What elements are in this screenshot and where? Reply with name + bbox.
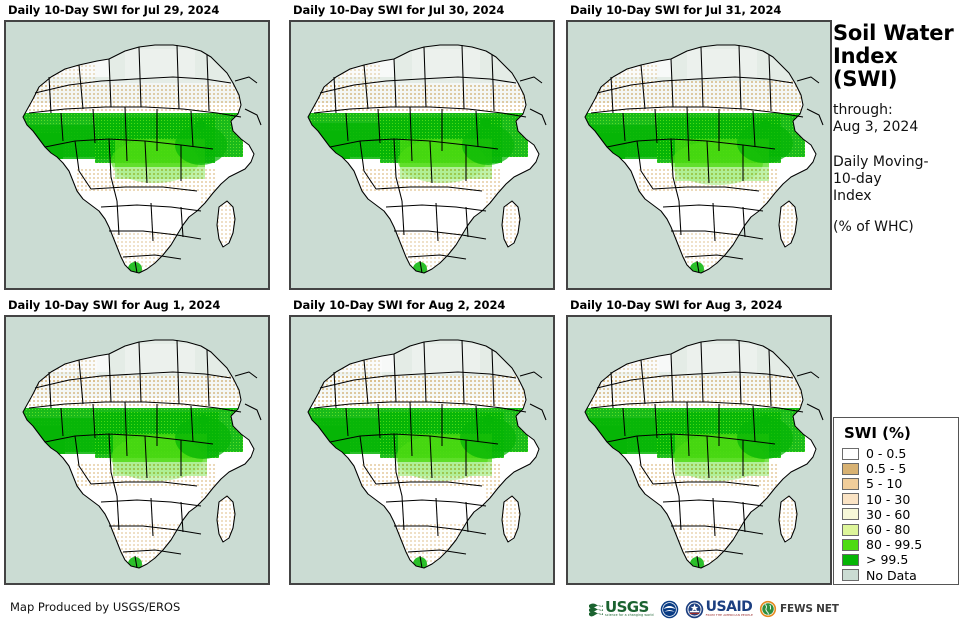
legend-label: 0.5 - 5 <box>866 461 906 476</box>
usgs-wave-icon <box>588 601 604 617</box>
fews-logo[interactable]: FEWS NET <box>759 598 839 620</box>
legend-item: 0.5 - 5 <box>842 461 950 476</box>
page-title: Soil Water Index (SWI) <box>833 22 970 91</box>
through-block: through: Aug 3, 2024 <box>833 102 970 136</box>
index-desc-line3: Index <box>833 188 970 205</box>
legend-item: 5 - 10 <box>842 476 950 491</box>
map-canvas-3[interactable] <box>566 20 832 290</box>
legend-swatch <box>842 463 859 475</box>
map-header: Soil Water Index (SWI) through: Aug 3, 2… <box>833 22 970 236</box>
legend-label: 30 - 60 <box>866 507 910 522</box>
noaa-logo[interactable] <box>660 598 679 620</box>
noaa-seal-icon <box>660 600 679 619</box>
africa-swi-map <box>5 21 269 289</box>
map-credit: Map Produced by USGS/EROS <box>10 600 180 614</box>
map-panel-1[interactable]: Daily 10-Day SWI for Jul 29, 2024 <box>0 2 272 290</box>
map-panel-2[interactable]: Daily 10-Day SWI for Jul 30, 2024 <box>285 2 557 290</box>
index-desc-line1: Daily Moving- <box>833 154 970 171</box>
index-desc-line2: 10-day <box>833 171 970 188</box>
legend-label: 5 - 10 <box>866 476 902 491</box>
swi-legend: SWI (%) 0 - 0.50.5 - 55 - 1010 - 3030 - … <box>833 417 959 585</box>
page-title-line3: (SWI) <box>833 67 897 91</box>
legend-swatch <box>842 448 859 460</box>
page-title-line2: Index <box>833 44 898 68</box>
africa-swi-map <box>290 316 554 584</box>
legend-title: SWI (%) <box>844 424 950 442</box>
map-canvas-1[interactable] <box>4 20 270 290</box>
africa-swi-map <box>567 21 831 289</box>
legend-label: > 99.5 <box>866 552 908 567</box>
legend-swatch <box>842 524 859 536</box>
legend-item: > 99.5 <box>842 552 950 567</box>
legend-swatch <box>842 569 859 581</box>
legend-swatch <box>842 493 859 505</box>
map-panel-title: Daily 10-Day SWI for Jul 29, 2024 <box>0 2 272 18</box>
legend-item: 30 - 60 <box>842 507 950 522</box>
map-panel-5[interactable]: Daily 10-Day SWI for Aug 2, 2024 <box>285 297 557 585</box>
legend-item: No Data <box>842 568 950 583</box>
map-panel-6[interactable]: Daily 10-Day SWI for Aug 3, 2024 <box>562 297 834 585</box>
map-canvas-4[interactable] <box>4 315 270 585</box>
africa-swi-map <box>290 21 554 289</box>
map-canvas-6[interactable] <box>566 315 832 585</box>
map-panel-4[interactable]: Daily 10-Day SWI for Aug 1, 2024 <box>0 297 272 585</box>
map-panel-grid: Daily 10-Day SWI for Jul 29, 2024 <box>0 0 830 590</box>
map-canvas-2[interactable] <box>289 20 555 290</box>
map-panel-title: Daily 10-Day SWI for Jul 31, 2024 <box>562 2 834 18</box>
units-label: (% of WHC) <box>833 219 970 236</box>
fews-wordmark: FEWS NET <box>780 603 839 615</box>
legend-item: 0 - 0.5 <box>842 446 950 461</box>
africa-swi-map <box>567 316 831 584</box>
legend-item: 60 - 80 <box>842 522 950 537</box>
through-label: through: <box>833 102 970 119</box>
usaid-tagline: FROM THE AMERICAN PEOPLE <box>706 613 753 617</box>
legend-label: 10 - 30 <box>866 492 910 507</box>
legend-label: No Data <box>866 568 917 583</box>
usaid-wordmark: USAID <box>706 602 753 613</box>
map-panel-title: Daily 10-Day SWI for Aug 2, 2024 <box>285 297 557 313</box>
legend-rows: 0 - 0.50.5 - 55 - 1010 - 3030 - 6060 - 8… <box>842 446 950 583</box>
legend-swatch <box>842 539 859 551</box>
legend-item: 80 - 99.5 <box>842 537 950 552</box>
usgs-logo[interactable]: USGS science for a changing world <box>588 598 654 620</box>
usaid-seal-icon <box>685 600 704 619</box>
map-panel-title: Daily 10-Day SWI for Aug 1, 2024 <box>0 297 272 313</box>
page-title-line1: Soil Water <box>833 21 953 45</box>
legend-label: 80 - 99.5 <box>866 537 922 552</box>
through-date: Aug 3, 2024 <box>833 119 970 136</box>
map-panel-title: Daily 10-Day SWI for Aug 3, 2024 <box>562 297 834 313</box>
map-panel-title: Daily 10-Day SWI for Jul 30, 2024 <box>285 2 557 18</box>
map-canvas-5[interactable] <box>289 315 555 585</box>
index-description: Daily Moving- 10-day Index <box>833 154 970 205</box>
usaid-logo[interactable]: USAID FROM THE AMERICAN PEOPLE <box>685 598 753 620</box>
agency-logos: USGS science for a changing world USAID … <box>588 598 839 620</box>
legend-label: 0 - 0.5 <box>866 446 906 461</box>
legend-item: 10 - 30 <box>842 492 950 507</box>
africa-swi-map <box>5 316 269 584</box>
usgs-wordmark: USGS <box>605 601 654 613</box>
fews-globe-icon <box>759 600 777 618</box>
legend-swatch <box>842 478 859 490</box>
map-panel-3[interactable]: Daily 10-Day SWI for Jul 31, 2024 <box>562 2 834 290</box>
legend-label: 60 - 80 <box>866 522 910 537</box>
legend-swatch <box>842 554 859 566</box>
legend-swatch <box>842 508 859 520</box>
usgs-tagline: science for a changing world <box>605 613 654 617</box>
